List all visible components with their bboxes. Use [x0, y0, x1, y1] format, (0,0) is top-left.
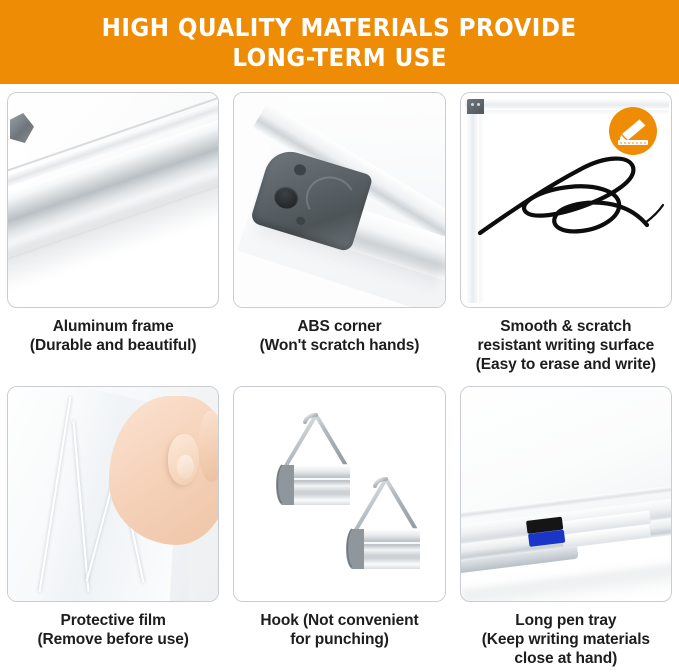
pen-writing-icon	[609, 107, 657, 155]
feature-grid: Aluminum frame (Durable and beautiful)	[0, 84, 679, 665]
caption-line-3: close at hand)	[482, 649, 650, 668]
caption-line-2: resistant writing surface	[476, 336, 656, 355]
caption-line-1: Aluminum frame	[30, 317, 196, 336]
caption-writing-surface: Smooth & scratch resistant writing surfa…	[476, 317, 656, 374]
caption-abs-corner: ABS corner (Won't scratch hands)	[260, 317, 420, 355]
caption-line-2: for punching)	[260, 630, 418, 649]
caption-line-2: (Won't scratch hands)	[260, 336, 420, 355]
banner-headline-line1: HIGH QUALITY MATERIALS PROVIDE	[102, 13, 577, 43]
caption-line-1: ABS corner	[260, 317, 420, 336]
header-banner: HIGH QUALITY MATERIALS PROVIDE LONG-TERM…	[0, 0, 679, 84]
corner-large-hole	[272, 184, 301, 212]
feature-card-abs-corner: ABS corner (Won't scratch hands)	[226, 84, 452, 378]
frame-corner-bracket-icon	[467, 99, 484, 114]
feature-card-pen-tray: Long pen tray (Keep writing materials cl…	[453, 378, 679, 672]
caption-line-2: (Durable and beautiful)	[30, 336, 196, 355]
photo-pen-tray	[460, 386, 672, 602]
photo-writing-surface	[460, 92, 672, 308]
feature-infographic: HIGH QUALITY MATERIALS PROVIDE LONG-TERM…	[0, 0, 679, 665]
index-finger	[199, 411, 219, 483]
caption-line-3: (Easy to erase and write)	[476, 355, 656, 374]
caption-line-1: Smooth & scratch	[476, 317, 656, 336]
caption-aluminum-frame: Aluminum frame (Durable and beautiful)	[30, 317, 196, 355]
caption-line-2: (Remove before use)	[37, 630, 188, 649]
caption-protective-film: Protective film (Remove before use)	[37, 611, 188, 649]
corner-small-hole-top	[293, 163, 308, 177]
photo-hook	[233, 386, 445, 602]
banner-headline-line2: LONG-TERM USE	[232, 43, 447, 73]
caption-line-2: (Keep writing materials	[482, 630, 650, 649]
photo-protective-film	[7, 386, 219, 602]
feature-card-writing-surface: Smooth & scratch resistant writing surfa…	[453, 84, 679, 378]
corner-arc-detail	[300, 170, 361, 229]
corner-small-hole-bottom	[296, 216, 307, 226]
feature-card-aluminum-frame: Aluminum frame (Durable and beautiful)	[0, 84, 226, 378]
pen-writing-badge	[609, 107, 657, 155]
caption-line-1: Long pen tray	[482, 611, 650, 630]
caption-hook: Hook (Not convenient for punching)	[260, 611, 418, 649]
feature-card-protective-film: Protective film (Remove before use)	[0, 378, 226, 672]
hanging-hook-clip	[342, 473, 434, 581]
feature-card-hook: Hook (Not convenient for punching)	[226, 378, 452, 672]
caption-line-1: Hook (Not convenient	[260, 611, 418, 630]
photo-aluminum-frame	[7, 92, 219, 308]
marker-scribble-drawing	[477, 145, 667, 255]
photo-abs-corner	[233, 92, 445, 308]
caption-pen-tray: Long pen tray (Keep writing materials cl…	[482, 611, 650, 668]
caption-line-1: Protective film	[37, 611, 188, 630]
